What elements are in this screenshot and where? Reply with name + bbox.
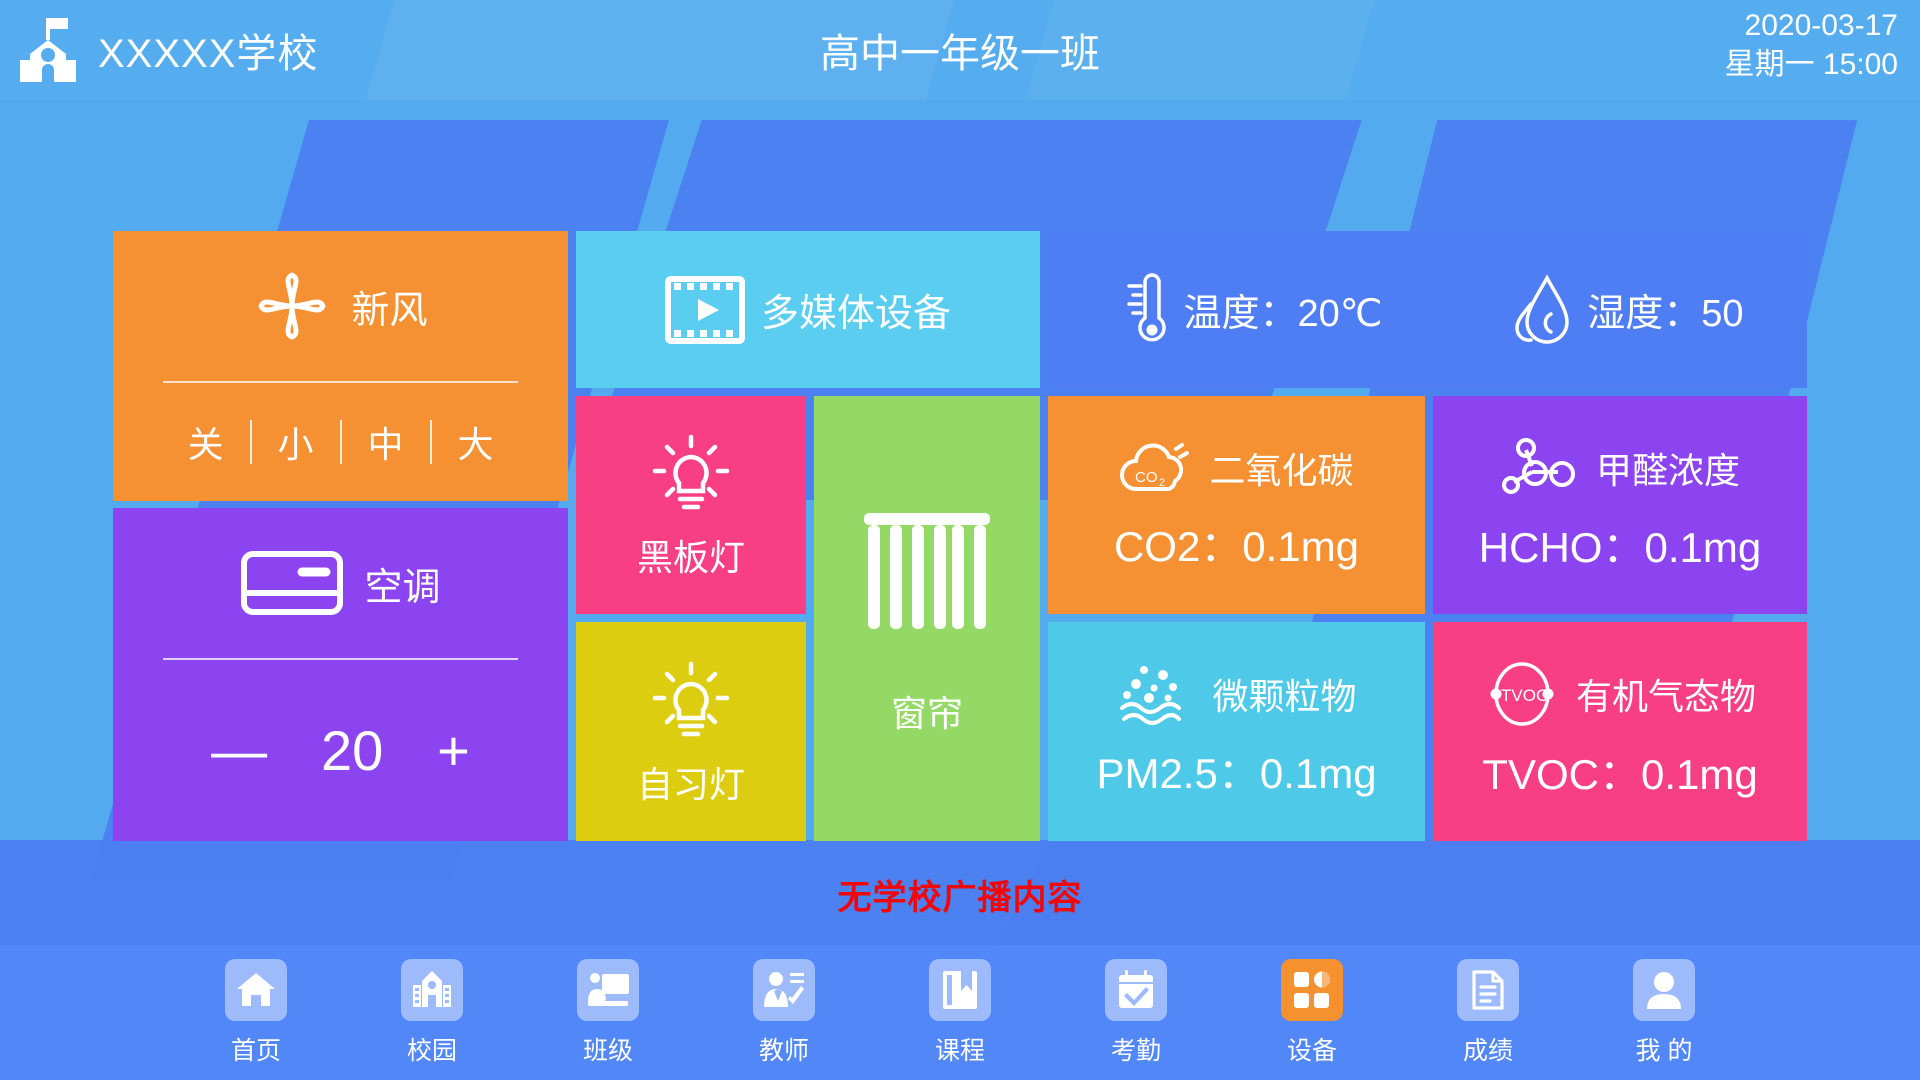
light-bulb-icon (645, 656, 737, 748)
nav-label-score: 成绩 (1463, 1031, 1513, 1067)
nav-item-profile[interactable]: 我 的 (1576, 959, 1752, 1067)
header-datetime: 2020-03-17 星期一 15:00 (1725, 6, 1898, 84)
user-avatar-icon (1633, 959, 1695, 1021)
svg-text:TVOC: TVOC (1501, 686, 1548, 705)
document-icon (1457, 959, 1519, 1021)
current-date: 2020-03-17 (1725, 6, 1898, 45)
nav-item-score[interactable]: 成绩 (1400, 959, 1576, 1067)
fresh-air-tile[interactable]: 新风 关 小 中 大 (113, 231, 568, 501)
air-conditioner-label: 空调 (364, 556, 440, 611)
humidity-text: 湿度：50 (1587, 282, 1743, 337)
svg-text:2: 2 (1159, 477, 1165, 489)
fresh-air-speed-low[interactable]: 小 (252, 416, 340, 468)
teacher-icon (753, 959, 815, 1021)
curtain-tile[interactable]: 窗帘 (814, 396, 1040, 841)
nav-label-attendance: 考勤 (1111, 1031, 1161, 1067)
water-drop-icon (1509, 270, 1571, 350)
nav-label-home: 首页 (231, 1031, 281, 1067)
bottom-navigation-bar: 首页 校园 班级 (0, 945, 1920, 1080)
current-weekday-time: 星期一 15:00 (1725, 45, 1898, 84)
classroom-icon (577, 959, 639, 1021)
fresh-air-label: 新风 (351, 279, 427, 334)
class-title: 高中一年级一班 (0, 21, 1920, 79)
pm25-name: 微颗粒物 (1212, 668, 1356, 720)
nav-item-device[interactable]: 设备 (1224, 959, 1400, 1067)
blackboard-light-tile[interactable]: 黑板灯 (576, 396, 806, 614)
light-bulb-icon (645, 429, 737, 521)
hcho-name: 甲醛浓度 (1596, 442, 1740, 494)
media-play-icon (665, 276, 745, 344)
broadcast-message: 无学校广播内容 (0, 870, 1920, 919)
co2-value: CO2：0.1mg (1114, 513, 1359, 574)
tvoc-name: 有机气态物 (1576, 668, 1756, 720)
svg-text:CO: CO (1135, 469, 1158, 486)
co2-sensor-tile[interactable]: CO 2 二氧化碳 CO2：0.1mg (1048, 396, 1425, 614)
home-icon (225, 959, 287, 1021)
nav-label-teacher: 教师 (759, 1031, 809, 1067)
humidity-reading: 湿度：50 (1509, 270, 1743, 350)
nav-item-attendance[interactable]: 考勤 (1048, 959, 1224, 1067)
co2-name: 二氧化碳 (1209, 442, 1353, 494)
temperature-text: 温度：20℃ (1183, 282, 1382, 337)
fan-icon (253, 267, 331, 345)
nav-item-teacher[interactable]: 教师 (696, 959, 872, 1067)
pm25-value: PM2.5：0.1mg (1096, 740, 1376, 801)
curtain-label: 窗帘 (891, 685, 963, 737)
fresh-air-speed-group: 关 小 中 大 (113, 383, 568, 501)
temperature-stepper: — 20 + (113, 660, 568, 841)
temperature-value: 20 (309, 723, 395, 779)
nav-label-course: 课程 (935, 1031, 985, 1067)
devices-grid-icon (1281, 959, 1343, 1021)
nav-label-campus: 校园 (407, 1031, 457, 1067)
molecule-icon (1500, 436, 1580, 500)
book-icon (929, 959, 991, 1021)
nav-item-class[interactable]: 班级 (520, 959, 696, 1067)
calendar-check-icon (1105, 959, 1167, 1021)
air-conditioner-tile[interactable]: 空调 — 20 + (113, 508, 568, 841)
particles-icon (1116, 662, 1196, 726)
fresh-air-speed-high[interactable]: 大 (432, 416, 520, 468)
hcho-value: HCHO：0.1mg (1479, 514, 1761, 575)
nav-label-class: 班级 (583, 1031, 633, 1067)
thermometer-icon (1111, 270, 1167, 350)
multimedia-tile[interactable]: 多媒体设备 (576, 231, 1040, 388)
blackboard-light-label: 黑板灯 (637, 529, 745, 581)
temperature-decrease-button[interactable]: — (211, 723, 267, 779)
campus-building-icon (401, 959, 463, 1021)
nav-item-home[interactable]: 首页 (168, 959, 344, 1067)
nav-label-device: 设备 (1287, 1031, 1337, 1067)
study-light-label: 自习灯 (637, 756, 745, 808)
fresh-air-speed-off[interactable]: 关 (162, 416, 250, 468)
device-dashboard: 新风 关 小 中 大 空调 — 20 (113, 231, 1807, 841)
study-light-tile[interactable]: 自习灯 (576, 622, 806, 841)
co2-cloud-icon: CO 2 (1119, 437, 1193, 499)
temperature-increase-button[interactable]: + (437, 723, 470, 779)
pm25-sensor-tile[interactable]: 微颗粒物 PM2.5：0.1mg (1048, 622, 1425, 841)
tvoc-value: TVOC：0.1mg (1482, 741, 1757, 802)
air-conditioner-icon (240, 550, 344, 616)
nav-item-course[interactable]: 课程 (872, 959, 1048, 1067)
curtain-icon (852, 501, 1002, 651)
tvoc-orbit-icon: TVOC (1484, 661, 1560, 727)
nav-label-profile: 我 的 (1636, 1031, 1693, 1067)
nav-item-campus[interactable]: 校园 (344, 959, 520, 1067)
tvoc-sensor-tile[interactable]: TVOC 有机气态物 TVOC：0.1mg (1433, 622, 1807, 841)
temperature-reading: 温度：20℃ (1111, 270, 1382, 350)
hcho-sensor-tile[interactable]: 甲醛浓度 HCHO：0.1mg (1433, 396, 1807, 614)
temperature-humidity-tile: 温度：20℃ 湿度：50 (1048, 231, 1807, 388)
app-header: XXXXX学校 高中一年级一班 2020-03-17 星期一 15:00 (0, 0, 1920, 100)
multimedia-label: 多媒体设备 (761, 282, 951, 337)
fresh-air-speed-medium[interactable]: 中 (342, 416, 430, 468)
